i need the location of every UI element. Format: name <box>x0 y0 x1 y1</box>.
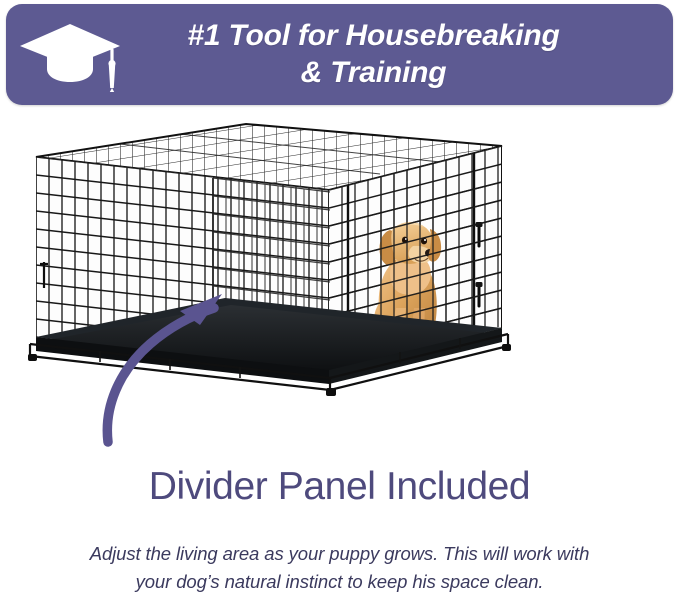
page-title: Divider Panel Included <box>0 466 679 509</box>
banner-headline: #1 Tool for Housebreaking & Training <box>130 18 673 91</box>
banner-line-1: #1 Tool for Housebreaking <box>130 18 617 55</box>
caption-line-1: Adjust the living area as your puppy gro… <box>0 540 679 568</box>
product-image <box>0 112 679 457</box>
caption-text: Adjust the living area as your puppy gro… <box>0 540 679 596</box>
banner-line-2: & Training <box>130 55 617 92</box>
caption-line-2: your dog’s natural instinct to keep his … <box>0 568 679 596</box>
promo-banner: #1 Tool for Housebreaking & Training <box>6 4 673 105</box>
graduation-cap-icon <box>12 18 130 92</box>
